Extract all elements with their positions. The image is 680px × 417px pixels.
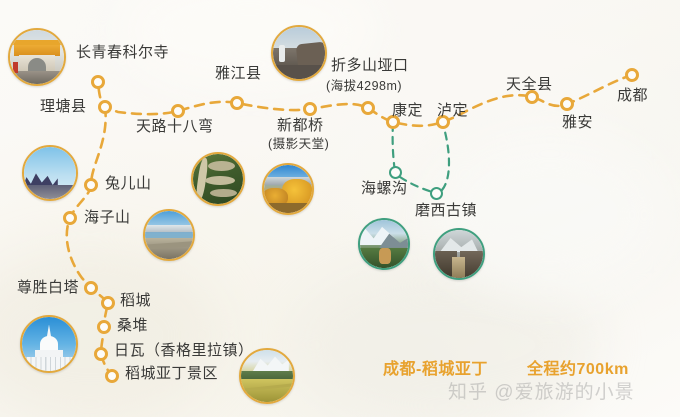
label-yaan: 雅安 bbox=[562, 115, 593, 132]
label-hailuogou: 海螺沟 bbox=[361, 181, 408, 198]
label-luding: 泸定 bbox=[437, 103, 468, 120]
route-node-tuershan[interactable] bbox=[84, 178, 98, 192]
label-zunshengbaita: 尊胜白塔 bbox=[17, 280, 79, 297]
branch-route-path-3 bbox=[442, 128, 449, 190]
label-tuershan: 兔儿山 bbox=[105, 176, 152, 193]
photo-tianlu18wan-image bbox=[193, 154, 243, 204]
route-node-daocheng[interactable] bbox=[101, 296, 115, 310]
footer-route-text: 成都-稻城亚丁 bbox=[383, 355, 488, 379]
route-node-riwa[interactable] bbox=[94, 347, 108, 361]
footer-distance-text: 全程约700km bbox=[527, 355, 629, 379]
route-node-zheduoshan[interactable] bbox=[361, 101, 375, 115]
photo-haizishan-image bbox=[145, 211, 193, 259]
route-node-tianlu18wan[interactable] bbox=[171, 104, 185, 118]
route-node-yadingjingqu[interactable] bbox=[105, 369, 119, 383]
route-node-hailuogou[interactable] bbox=[389, 166, 402, 179]
label-riwa: 日瓦（香格里拉镇） bbox=[114, 343, 254, 360]
photo-tuershan[interactable] bbox=[22, 145, 78, 201]
route-node-yaan[interactable] bbox=[560, 97, 574, 111]
label-tianlu18wan: 天路十八弯 bbox=[136, 119, 214, 136]
photo-hailuogou[interactable] bbox=[358, 218, 410, 270]
photo-litang-temple[interactable] bbox=[8, 28, 66, 86]
route-node-yajiangxian[interactable] bbox=[230, 96, 244, 110]
route-node-sangdui[interactable] bbox=[97, 320, 111, 334]
photo-xindouqiao-image bbox=[264, 165, 312, 213]
photo-zunshengbaita-image bbox=[22, 317, 76, 371]
label-yajiangxian: 雅江县 bbox=[215, 66, 262, 83]
label-haizishan: 海子山 bbox=[84, 210, 131, 227]
photo-zunshengbaita[interactable] bbox=[20, 315, 78, 373]
label-xindouqiao: 新都桥 bbox=[277, 118, 324, 135]
label-changqingchun: 长青春科尔寺 bbox=[76, 45, 169, 62]
route-node-moxiguzhen[interactable] bbox=[430, 187, 443, 200]
photo-litang-temple-image bbox=[10, 30, 64, 84]
label-moxiguzhen: 磨西古镇 bbox=[415, 203, 477, 220]
label-zheduoshan-sub: (海拔4298m) bbox=[326, 79, 402, 93]
photo-moxiguzhen-image bbox=[435, 230, 483, 278]
photo-yadingjingqu[interactable] bbox=[239, 348, 295, 404]
label-yadingjingqu: 稻城亚丁景区 bbox=[125, 366, 218, 383]
route-node-zunshengbaita[interactable] bbox=[84, 281, 98, 295]
label-tianquanxian: 天全县 bbox=[506, 77, 553, 94]
photo-haizishan[interactable] bbox=[143, 209, 195, 261]
photo-zheduoshan[interactable] bbox=[271, 25, 327, 81]
photo-yadingjingqu-image bbox=[241, 350, 293, 402]
photo-xindouqiao[interactable] bbox=[262, 163, 314, 215]
photo-zheduoshan-image bbox=[273, 27, 325, 79]
route-node-chengdu[interactable] bbox=[625, 68, 639, 82]
branch-route-path bbox=[393, 124, 395, 172]
label-daocheng: 稻城 bbox=[120, 293, 151, 310]
route-node-haizishan[interactable] bbox=[63, 211, 77, 225]
route-node-changqingchun[interactable] bbox=[91, 75, 105, 89]
label-kangding: 康定 bbox=[392, 103, 423, 120]
photo-tuershan-image bbox=[24, 147, 76, 199]
label-chengdu: 成都 bbox=[617, 88, 648, 105]
label-xindouqiao-sub: (摄影天堂) bbox=[268, 137, 329, 151]
route-map: 长青春科尔寺理塘县雅江县天路十八弯折多山垭口(海拔4298m)新都桥(摄影天堂)… bbox=[0, 0, 680, 417]
photo-moxiguzhen[interactable] bbox=[433, 228, 485, 280]
watermark: 知乎 @爱旅游的小景 bbox=[448, 377, 635, 404]
photo-hailuogou-image bbox=[360, 220, 408, 268]
label-litangxian: 理塘县 bbox=[40, 99, 87, 116]
photo-tianlu18wan[interactable] bbox=[191, 152, 245, 206]
label-zheduoshan: 折多山垭口 bbox=[331, 58, 409, 75]
route-node-xindouqiao[interactable] bbox=[303, 102, 317, 116]
route-node-litangxian[interactable] bbox=[98, 100, 112, 114]
label-sangdui: 桑堆 bbox=[117, 318, 148, 335]
